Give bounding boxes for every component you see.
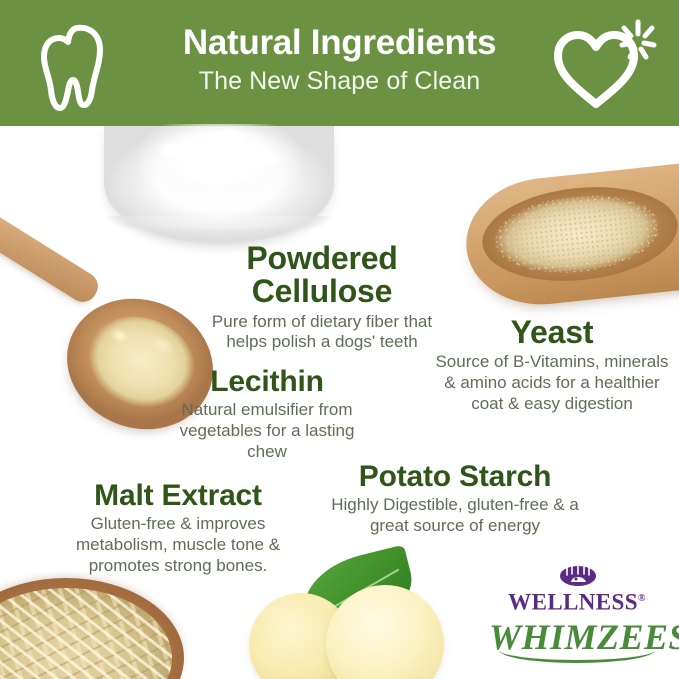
ingredient-title: Yeast — [434, 316, 670, 349]
ingredient-description: Pure form of dietary fiber that helps po… — [192, 312, 452, 353]
ingredient-description: Gluten-free & improves metabolism, muscl… — [44, 514, 312, 576]
ingredient-title: Potato Starch — [324, 461, 586, 492]
brand-logo: WELLNESS® WHIMZEES® — [489, 564, 665, 660]
ingredient-title: Powdered Cellulose — [192, 242, 452, 309]
logo-swoosh — [499, 650, 655, 663]
ingredient-title: Malt Extract — [44, 480, 312, 511]
wooden-scoop-of-yeast-granules-photo — [466, 168, 679, 314]
ingredients-infographic: Natural Ingredients The New Shape of Cle… — [0, 0, 679, 679]
registered-mark: ® — [638, 593, 646, 604]
heart-sparkle-icon — [546, 12, 658, 116]
ingredient-title: Lecithin — [164, 366, 370, 397]
sun-dog-emblem-icon — [559, 564, 597, 586]
logo-wellness-text: WELLNESS — [508, 590, 638, 615]
ingredient-block-malt-extract: Malt Extract Gluten-free & improves meta… — [44, 480, 312, 576]
header-band: Natural Ingredients The New Shape of Cle… — [0, 0, 679, 126]
ingredient-block-yeast: Yeast Source of B-Vitamins, minerals & a… — [434, 316, 670, 414]
ingredient-block-lecithin: Lecithin Natural emulsifier from vegetab… — [164, 366, 370, 462]
ingredient-description: Highly Digestible, gluten-free & a great… — [324, 495, 586, 536]
barley-grains — [0, 588, 172, 679]
ingredient-description: Source of B-Vitamins, minerals & amino a… — [434, 352, 670, 414]
ingredient-block-potato-starch: Potato Starch Highly Digestible, gluten-… — [324, 461, 586, 537]
spoon-handle — [0, 202, 103, 307]
ingredient-block-powdered-cellulose: Powdered Cellulose Pure form of dietary … — [192, 242, 452, 353]
ingredient-description: Natural emulsifier from vegetables for a… — [164, 400, 370, 462]
